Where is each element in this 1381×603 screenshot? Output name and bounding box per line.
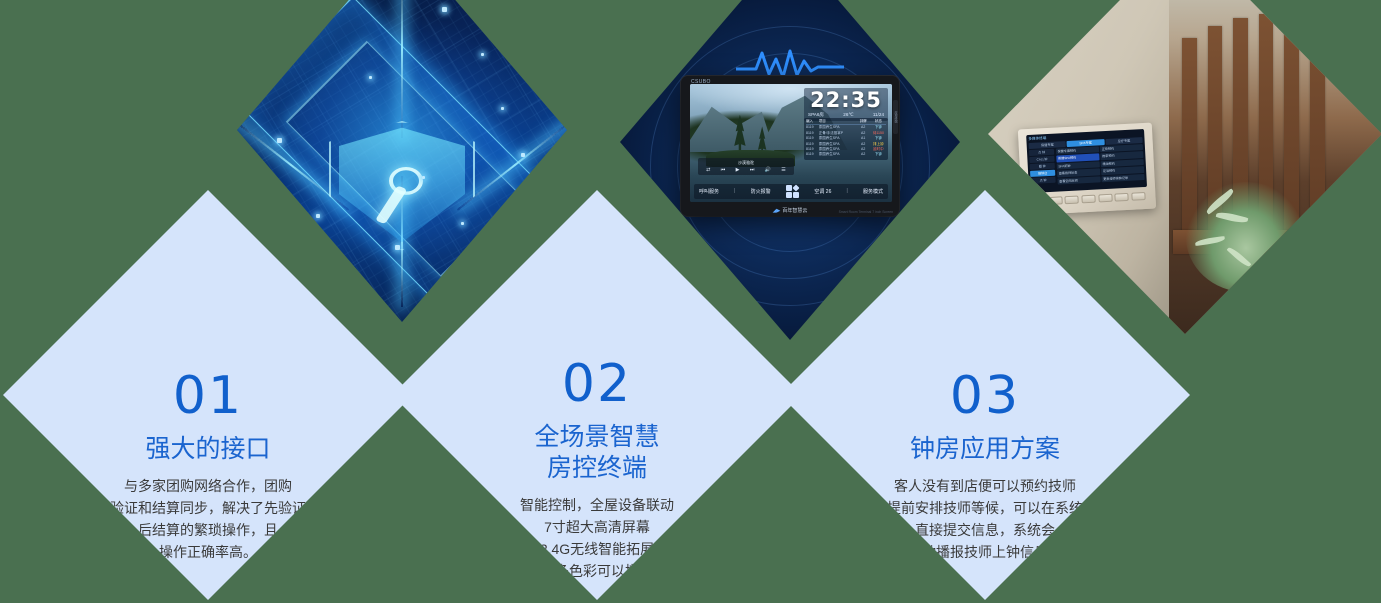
action-service-mode[interactable]: 服务模式 bbox=[863, 188, 883, 195]
tablet-logo: ◢▶百年智慧云 bbox=[773, 207, 808, 214]
card-title: 强大的接口 bbox=[15, 434, 401, 465]
track-title: 沙漠骆驼 bbox=[701, 160, 791, 166]
card-body-text: 与多家团购网络合作，团购 验证和结算同步，解决了先验证 后结算的繁琐操作，且 操… bbox=[15, 475, 401, 563]
card-number: 03 bbox=[792, 370, 1178, 422]
row-status: 下钟 bbox=[871, 152, 886, 157]
clock-time: 22:35 bbox=[807, 90, 885, 111]
row-item: 泰国养生SPA bbox=[819, 152, 856, 157]
feature-diamond-layout: CSUBO 房控终端 22:35 SPA6房 26℃ bbox=[0, 0, 1381, 603]
player-controls[interactable]: ⇄ ⏮ ▶ ⏭ 🔊 ☰ bbox=[701, 167, 791, 173]
panel-screen[interactable]: 多媒体终端 保健专案 SPA专案 足疗专案 点 钟 CALL钟 圈 钟 换钟台 … bbox=[1026, 129, 1147, 193]
panel-hardware-buttons[interactable] bbox=[1029, 192, 1147, 206]
volume-icon[interactable]: 🔊 bbox=[765, 167, 771, 173]
col-status: 状态 bbox=[871, 119, 886, 124]
card-content-02: 02 全场景智慧 房控终端 智能控制，全屋设备联动 7寸超大高清屏幕 2.4G无… bbox=[392, 358, 802, 582]
play-icon[interactable]: ▶ bbox=[736, 167, 740, 173]
panel-button[interactable] bbox=[1081, 195, 1095, 204]
clock-widget: 22:35 SPA6房 26℃ 11/24 bbox=[804, 88, 888, 121]
col-card: 钟牌 bbox=[856, 119, 871, 124]
card-number: 01 bbox=[15, 370, 401, 422]
card-body-text: 客人没有到店便可以预约技师 并提前安排技师等候，可以在系统中 直接提交信息，系统… bbox=[792, 475, 1178, 563]
card-content-03: 03 钟房应用方案 客人没有到店便可以预约技师 并提前安排技师等候，可以在系统中… bbox=[780, 370, 1190, 563]
wall-mounted-control-panel[interactable]: 多媒体终端 保健专案 SPA专案 足疗专案 点 钟 CALL钟 圈 钟 换钟台 … bbox=[1017, 123, 1155, 216]
panel-button[interactable] bbox=[1064, 195, 1078, 204]
action-call-service[interactable]: 呼叫服务 bbox=[699, 188, 719, 195]
table-row[interactable]: 8119 泰国养生SPA A2 下钟 bbox=[806, 152, 886, 157]
separator: | bbox=[734, 188, 735, 194]
room-background bbox=[1169, 0, 1381, 334]
next-icon[interactable]: ⏭ bbox=[750, 167, 755, 173]
previous-icon[interactable]: ⏮ bbox=[721, 167, 726, 173]
room-control-tablet: CSUBO 房控终端 22:35 SPA6房 26℃ bbox=[681, 76, 899, 216]
tablet-side-label: 房控终端 bbox=[893, 100, 898, 134]
grid-cell bbox=[786, 185, 792, 191]
panel-menu-columns[interactable]: 保健专案预约 保健SPA预约 SPA拓钟 查看技师状态 查看空闲房间 正骨预约 … bbox=[1055, 144, 1144, 186]
panel-button[interactable] bbox=[1131, 192, 1145, 201]
room-schedule-list[interactable]: 编入 项目 钟牌 状态 8119 泰国养生SPA A2 下钟 8119 bbox=[804, 118, 888, 160]
clock-date: 11/24 bbox=[873, 112, 884, 117]
menu-column-left[interactable]: 保健专案预约 保健SPA预约 SPA拓钟 查看技师状态 查看空闲房间 bbox=[1055, 146, 1100, 185]
quick-action-bar[interactable]: 呼叫服务 | 防火报警 空调 26 | 服务模式 bbox=[694, 184, 888, 199]
col-item: 项目 bbox=[819, 119, 856, 124]
playlist-icon[interactable]: ☰ bbox=[781, 167, 785, 173]
tablet-screen[interactable]: 22:35 SPA6房 26℃ 11/24 编入 项目 钟牌 状态 bbox=[690, 84, 892, 202]
potted-plant bbox=[1186, 182, 1306, 292]
music-player-widget[interactable]: 沙漠骆驼 ⇄ ⏮ ▶ ⏭ 🔊 ☰ bbox=[698, 158, 794, 175]
tablet-footer-note: Smart Room Terminal 7 inch Screen bbox=[839, 210, 893, 214]
card-content-01: 01 强大的接口 与多家团购网络合作，团购 验证和结算同步，解决了先验证 后结算… bbox=[3, 370, 413, 563]
grid-cell bbox=[793, 192, 799, 198]
card-number: 02 bbox=[404, 358, 790, 410]
menu-item-update-records[interactable]: 更新技师排钟记录 bbox=[1101, 174, 1144, 183]
card-title: 全场景智慧 房控终端 bbox=[404, 422, 790, 484]
panel-button[interactable] bbox=[1097, 194, 1111, 203]
panel-button[interactable] bbox=[1048, 196, 1062, 205]
panel-button[interactable] bbox=[1114, 193, 1128, 202]
grid-cell-diamond bbox=[793, 184, 800, 191]
separator: | bbox=[847, 188, 848, 194]
card-title: 钟房应用方案 bbox=[792, 434, 1178, 465]
grid-cell bbox=[786, 192, 792, 198]
menu-column-right[interactable]: 正骨预约 推拿预约 精油预约 足浴预约 更新技师排钟记录 bbox=[1100, 144, 1145, 183]
col-no: 编入 bbox=[806, 119, 819, 124]
action-fire-alarm[interactable]: 防火报警 bbox=[751, 188, 771, 195]
side-item-dianzhong-2[interactable]: 点 钟 bbox=[1030, 177, 1055, 184]
logo-mark-icon: ◢▶ bbox=[773, 208, 781, 214]
panel-button[interactable] bbox=[1031, 197, 1045, 206]
shuffle-icon[interactable]: ⇄ bbox=[706, 167, 710, 173]
panel-side-nav[interactable]: 点 钟 CALL钟 圈 钟 换钟台 点 钟 bbox=[1028, 149, 1055, 187]
menu-item-free-rooms[interactable]: 查看空闲房间 bbox=[1057, 176, 1100, 185]
apps-grid-icon[interactable] bbox=[786, 185, 800, 199]
row-no: 8119 bbox=[806, 152, 819, 157]
wood-slat bbox=[1310, 6, 1325, 258]
panel-body: 点 钟 CALL钟 圈 钟 换钟台 点 钟 保健专案预约 保健SPA预约 SPA… bbox=[1028, 144, 1144, 187]
row-card: A2 bbox=[856, 152, 871, 157]
logo-text: 百年智慧云 bbox=[782, 208, 807, 214]
card-body-text: 智能控制，全屋设备联动 7寸超大高清屏幕 2.4G无线智能拓展 众多色彩可以搭配 bbox=[404, 494, 790, 582]
action-air-conditioner[interactable]: 空调 26 bbox=[814, 188, 831, 195]
